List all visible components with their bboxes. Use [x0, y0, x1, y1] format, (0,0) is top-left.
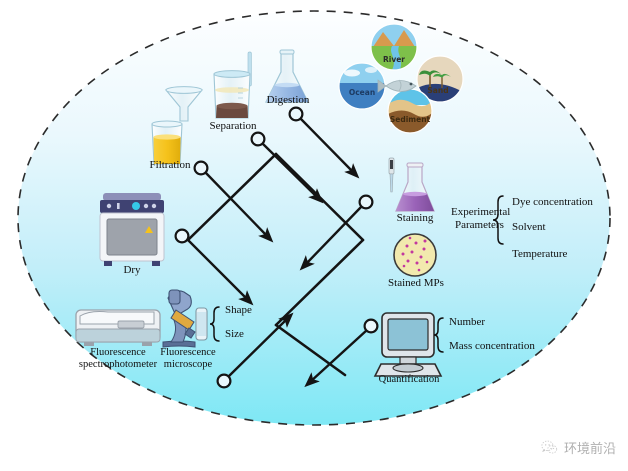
param-temperature: Temperature [512, 248, 567, 260]
source-icon-river: River [371, 24, 417, 70]
step-icon-stained-mps [394, 234, 436, 276]
experimental-parameters-title-line2: Parameters [455, 219, 504, 231]
label-digestion: Digestion [260, 95, 316, 107]
wechat-icon [541, 440, 558, 455]
param-solvent: Solvent [512, 221, 546, 233]
instrument-icon-spectrophotometer [76, 310, 160, 346]
output-size: Size [225, 328, 244, 340]
label-stained-mps: Stained MPs [382, 278, 450, 290]
label-separation: Separation [204, 121, 262, 133]
svg-text:River: River [383, 55, 405, 64]
watermark: 环境前沿 [541, 438, 616, 457]
label-microscope-line1: Fluorescence [148, 347, 228, 358]
label-filtration: Filtration [142, 160, 198, 172]
step-icon-filtration [152, 87, 202, 164]
pipette-icon [389, 158, 394, 192]
brace-morphology [210, 307, 219, 341]
label-dry: Dry [108, 265, 156, 277]
step-icon-separation [214, 52, 251, 118]
instrument-icon-computer [375, 313, 441, 376]
watermark-text: 环境前沿 [564, 438, 616, 457]
param-dye-concentration: Dye concentration [512, 196, 593, 208]
output-mass-concentration: Mass concentration [449, 340, 535, 352]
label-quantification: Quantification [372, 374, 446, 385]
icon-artwork-layer: River Ocean Sand [0, 0, 628, 471]
instrument-icon-microscope [163, 290, 207, 347]
output-number: Number [449, 316, 485, 328]
svg-text:Ocean: Ocean [349, 88, 375, 97]
figure-canvas: River Ocean Sand [0, 0, 628, 471]
label-microscope-line2: microscope [150, 359, 226, 370]
step-icon-dry [100, 193, 164, 266]
brace-quantification [434, 318, 443, 352]
step-icon-staining [389, 158, 434, 211]
source-icon-sediment: Sediment [388, 89, 432, 133]
label-staining: Staining [387, 213, 443, 225]
output-shape: Shape [225, 304, 252, 316]
experimental-parameters-title-line1: Experimental [451, 206, 510, 218]
svg-text:Sediment: Sediment [390, 115, 431, 124]
svg-text:Sand: Sand [427, 86, 448, 95]
